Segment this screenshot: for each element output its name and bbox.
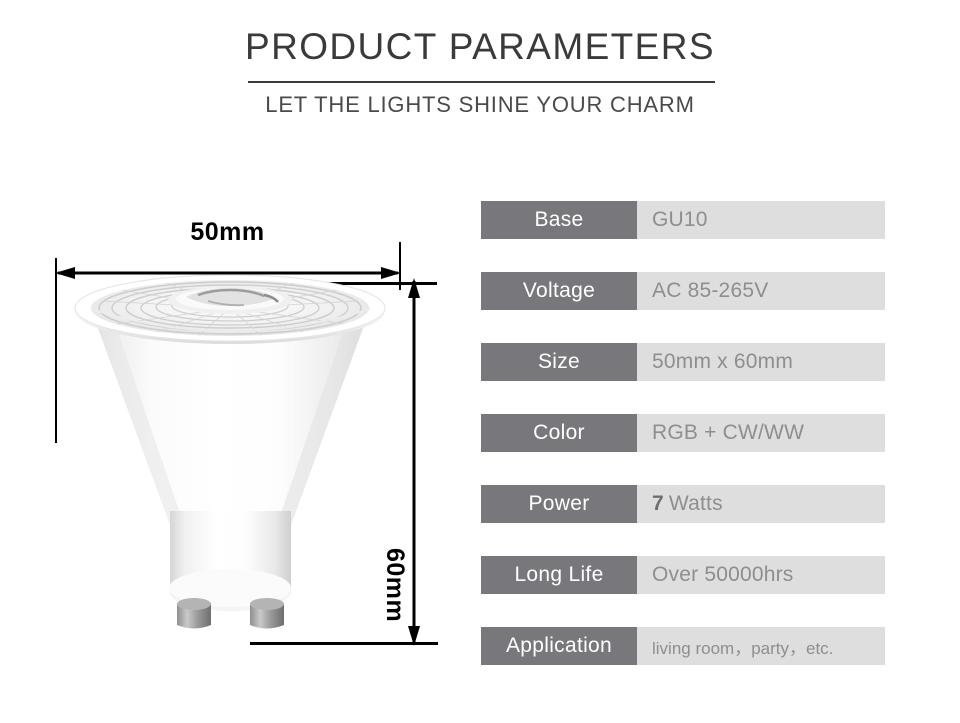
width-dimension-label: 50mm [55,218,400,247]
table-row-size: Size 50mm x 60mm [481,343,885,381]
page-subtitle: LET THE LIGHTS SHINE YOUR CHARM [0,92,960,118]
param-value-power-unit: Watts [669,492,723,516]
table-row-base: Base GU10 [481,201,885,239]
product-figure: 50mm 60mm [0,150,470,690]
param-key-voltage: Voltage [481,272,637,310]
gu10-bulb-illustration [58,275,403,645]
param-key-power: Power [481,485,637,523]
product-parameters-page: PRODUCT PARAMETERS LET THE LIGHTS SHINE … [0,0,960,723]
param-key-long-life: Long Life [481,556,637,594]
table-row-power: Power 7Watts [481,485,885,523]
param-value-power-number: 7 [652,492,664,516]
param-value-color: RGB + CW/WW [637,414,885,452]
param-key-base: Base [481,201,637,239]
table-row-application: Application living room，party，etc. [481,627,885,665]
header: PRODUCT PARAMETERS LET THE LIGHTS SHINE … [0,0,960,140]
param-key-color: Color [481,414,637,452]
param-key-application: Application [481,627,637,665]
width-dimension-line [55,255,401,291]
param-value-voltage: AC 85-265V [637,272,885,310]
param-value-power: 7Watts [637,485,885,523]
parameter-table: Base GU10 Voltage AC 85-265V Size 50mm x… [481,201,885,665]
table-row-voltage: Voltage AC 85-265V [481,272,885,310]
page-title: PRODUCT PARAMETERS [0,26,960,68]
param-key-size: Size [481,343,637,381]
table-row-long-life: Long Life Over 50000hrs [481,556,885,594]
param-value-base: GU10 [637,201,885,239]
param-value-size: 50mm x 60mm [637,343,885,381]
param-value-long-life: Over 50000hrs [637,556,885,594]
height-dimension-line [395,278,431,646]
table-row-color: Color RGB + CW/WW [481,414,885,452]
param-value-application: living room，party，etc. [637,627,885,665]
title-divider [248,81,715,83]
